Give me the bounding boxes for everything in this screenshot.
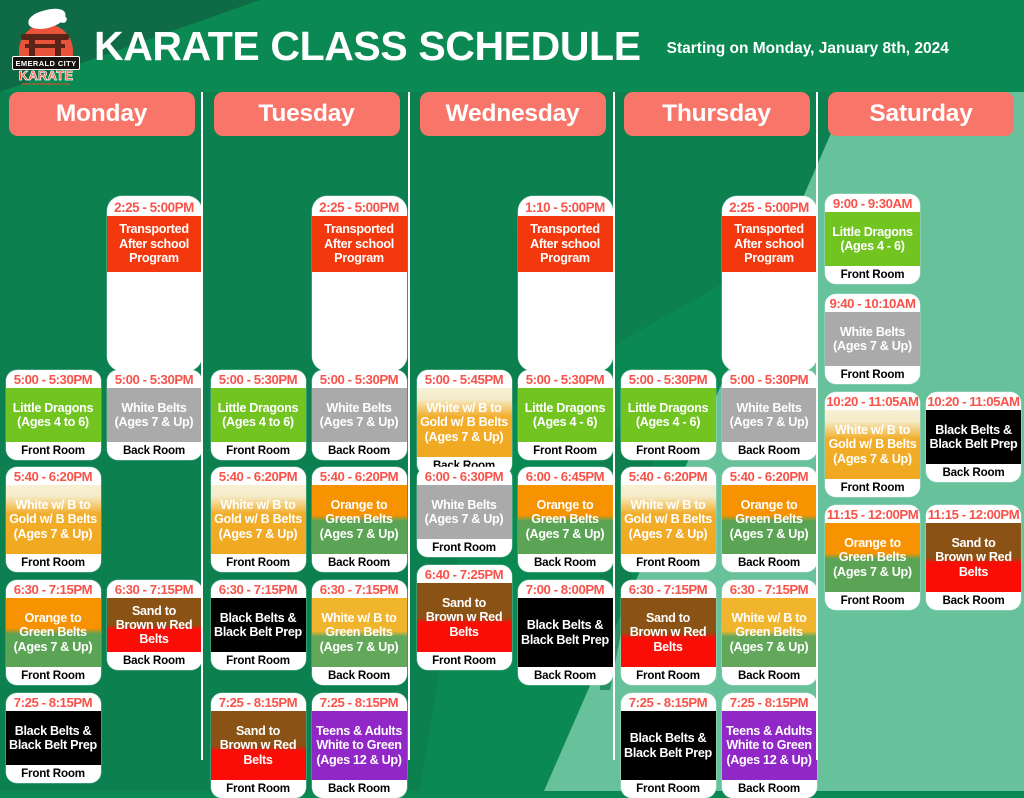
class-card[interactable]: 7:25 - 8:15PMTeens & AdultsWhite to Gree… [312,693,407,798]
class-room: Front Room [6,667,101,685]
day-column-tuesday: Tuesday2:25 - 5:00PMTransportedAfter sch… [203,88,410,791]
class-time: 10:20 - 11:05AM [825,392,920,410]
class-room: Front Room [6,554,101,572]
class-time: 5:00 - 5:30PM [312,370,407,388]
class-time: 7:25 - 8:15PM [722,693,817,711]
card-filler [312,272,407,371]
class-time: 11:15 - 12:00PM [926,505,1021,523]
class-room: Front Room [518,442,613,460]
class-room: Front Room [825,479,920,497]
class-name: Sand toBrown w RedBelts [107,598,202,652]
class-card-transported[interactable]: 2:25 - 5:00PMTransportedAfter schoolProg… [722,196,817,371]
class-time: 6:30 - 7:15PM [6,580,101,598]
class-name: White Belts(Ages 7 & Up) [825,312,920,366]
class-room: Front Room [825,366,920,384]
class-room: Front Room [621,780,716,798]
class-time: 6:30 - 7:15PM [621,580,716,598]
class-time: 2:25 - 5:00PM [312,196,407,216]
class-name: Black Belts &Black Belt Prep [518,598,613,667]
class-card[interactable]: 7:25 - 8:15PMTeens & AdultsWhite to Gree… [722,693,817,798]
class-time: 7:25 - 8:15PM [6,693,101,711]
class-name: Black Belts &Black Belt Prep [621,711,716,780]
class-room: Back Room [518,554,613,572]
class-name: Black Belts &Black Belt Prep [926,410,1021,464]
class-name: Orange toGreen Belts(Ages 7 & Up) [518,485,613,554]
class-name: White w/ B toGreen Belts(Ages 7 & Up) [722,598,817,667]
class-name: White w/ B toGold w/ B Belts(Ages 7 & Up… [825,410,920,479]
class-card[interactable]: 9:00 - 9:30AMLittle Dragons(Ages 4 - 6)F… [825,194,920,284]
slot-area: 1:10 - 5:00PMTransportedAfter schoolProg… [413,142,613,791]
class-card[interactable]: 5:00 - 5:45PMWhite w/ B toGold w/ B Belt… [417,370,512,475]
class-name: Little Dragons(Ages 4 - 6) [518,388,613,442]
class-time: 2:25 - 5:00PM [107,196,202,216]
class-name: White Belts(Ages 7 & Up) [722,388,817,442]
class-name: White Belts(Ages 7 & Up) [417,485,512,539]
class-time: 5:40 - 6:20PM [211,467,306,485]
class-room: Back Room [722,554,817,572]
class-room: Back Room [107,652,202,670]
class-card[interactable]: 6:30 - 7:15PMOrange toGreen Belts(Ages 7… [6,580,101,685]
class-time: 5:00 - 5:30PM [518,370,613,388]
class-name: White w/ B toGold w/ B Belts(Ages 7 & Up… [621,485,716,554]
class-time: 5:40 - 6:20PM [312,467,407,485]
class-name: Orange toGreen Belts(Ages 7 & Up) [825,523,920,592]
class-time: 5:40 - 6:20PM [722,467,817,485]
class-card[interactable]: 5:00 - 5:30PMLittle Dragons(Ages 4 - 6)F… [621,370,716,460]
class-card[interactable]: 6:40 - 7:25PMSand toBrown w RedBeltsFron… [417,565,512,670]
day-header-thursday[interactable]: Thursday [624,92,810,136]
day-header-wednesday[interactable]: Wednesday [420,92,606,136]
day-column-thursday: Thursday2:25 - 5:00PMTransportedAfter sc… [615,88,818,791]
class-name: Orange toGreen Belts(Ages 7 & Up) [312,485,407,554]
card-filler [518,272,613,371]
class-room: Back Room [926,592,1021,610]
class-card-transported[interactable]: 2:25 - 5:00PMTransportedAfter schoolProg… [107,196,202,371]
class-room: Front Room [211,442,306,460]
class-time: 5:00 - 5:30PM [722,370,817,388]
class-name: Sand toBrown w RedBelts [621,598,716,667]
class-room: Front Room [621,667,716,685]
class-room: Back Room [312,554,407,572]
class-card[interactable]: 7:25 - 8:15PMBlack Belts &Black Belt Pre… [621,693,716,798]
class-name: White w/ B toGold w/ B Belts(Ages 7 & Up… [417,388,512,457]
class-room: Front Room [417,539,512,557]
class-card[interactable]: 6:30 - 7:15PMWhite w/ B toGreen Belts(Ag… [722,580,817,685]
class-card[interactable]: 10:20 - 11:05AMBlack Belts &Black Belt P… [926,392,1021,482]
day-column-saturday: Saturday9:00 - 9:30AMLittle Dragons(Ages… [818,88,1024,791]
class-time: 5:40 - 6:20PM [6,467,101,485]
card-filler [722,272,817,371]
class-time: 7:00 - 8:00PM [518,580,613,598]
class-name: Sand toBrown w RedBelts [926,523,1021,592]
class-time: 9:00 - 9:30AM [825,194,920,212]
page-subtitle: Starting on Monday, January 8th, 2024 [667,34,949,58]
class-time: 6:00 - 6:30PM [417,467,512,485]
class-time: 5:00 - 5:30PM [621,370,716,388]
class-room: Back Room [107,442,202,460]
class-room: Back Room [312,780,407,798]
class-name: Teens & AdultsWhite to Green(Ages 12 & U… [722,711,817,780]
class-card[interactable]: 6:30 - 7:15PMSand toBrown w RedBeltsBack… [107,580,202,670]
class-room: Front Room [211,780,306,798]
class-time: 5:00 - 5:30PM [6,370,101,388]
day-column-wednesday: Wednesday1:10 - 5:00PMTransportedAfter s… [410,88,615,791]
class-time: 6:30 - 7:15PM [312,580,407,598]
class-room: Back Room [926,464,1021,482]
class-name: Sand toBrown w RedBelts [417,583,512,652]
class-name: White w/ B toGreen Belts(Ages 7 & Up) [312,598,407,667]
class-time: 5:00 - 5:30PM [211,370,306,388]
class-card[interactable]: 11:15 - 12:00PMSand toBrown w RedBeltsBa… [926,505,1021,610]
class-room: Back Room [722,442,817,460]
day-header-tuesday[interactable]: Tuesday [214,92,400,136]
class-time: 6:30 - 7:15PM [722,580,817,598]
page-title: KARATE CLASS SCHEDULE [94,23,641,70]
class-room: Front Room [6,765,101,783]
class-card[interactable]: 7:25 - 8:15PMBlack Belts &Black Belt Pre… [6,693,101,783]
day-column-monday: Monday2:25 - 5:00PMTransportedAfter scho… [0,88,203,791]
class-name: Little Dragons(Ages 4 - 6) [825,212,920,266]
class-time: 1:10 - 5:00PM [518,196,613,216]
class-card[interactable]: 6:00 - 6:45PMOrange toGreen Belts(Ages 7… [518,467,613,572]
class-room: Back Room [518,667,613,685]
class-name: Sand toBrown w RedBelts [211,711,306,780]
class-room: Front Room [211,652,306,670]
class-room: Front Room [621,442,716,460]
slot-area: 2:25 - 5:00PMTransportedAfter schoolProg… [2,142,202,791]
class-time: 10:20 - 11:05AM [926,392,1021,410]
class-room: Front Room [825,266,920,284]
class-name: Little Dragons(Ages 4 to 6) [211,388,306,442]
class-time: 9:40 - 10:10AM [825,294,920,312]
class-name: Orange toGreen Belts(Ages 7 & Up) [6,598,101,667]
page-header: EMERALD CITY KARATE www.emeraldcitykarat… [0,0,1024,92]
day-header-saturday[interactable]: Saturday [828,92,1014,136]
class-room: Front Room [825,592,920,610]
class-time: 6:30 - 7:15PM [211,580,306,598]
class-time: 5:00 - 5:30PM [107,370,202,388]
class-card[interactable]: 5:00 - 5:30PMWhite Belts(Ages 7 & Up)Bac… [312,370,407,460]
class-time: 7:25 - 8:15PM [312,693,407,711]
class-room: Back Room [722,780,817,798]
class-name: Little Dragons(Ages 4 - 6) [621,388,716,442]
class-card[interactable]: 6:30 - 7:15PMWhite w/ B toGreen Belts(Ag… [312,580,407,685]
slot-area: 2:25 - 5:00PMTransportedAfter schoolProg… [207,142,407,791]
class-room: Front Room [6,442,101,460]
class-time: 6:40 - 7:25PM [417,565,512,583]
class-card[interactable]: 6:00 - 6:30PMWhite Belts(Ages 7 & Up)Fro… [417,467,512,557]
class-name: White Belts(Ages 7 & Up) [107,388,202,442]
class-card[interactable]: 5:00 - 5:30PMLittle Dragons(Ages 4 - 6)F… [518,370,613,460]
class-time: 6:30 - 7:15PM [107,580,202,598]
class-time: 7:25 - 8:15PM [621,693,716,711]
class-name: Black Belts &Black Belt Prep [211,598,306,652]
class-name: White w/ B toGold w/ B Belts(Ages 7 & Up… [211,485,306,554]
class-room: Front Room [621,554,716,572]
class-card[interactable]: 9:40 - 10:10AMWhite Belts(Ages 7 & Up)Fr… [825,294,920,384]
class-card[interactable]: 10:20 - 11:05AMWhite w/ B toGold w/ B Be… [825,392,920,497]
class-card[interactable]: 5:40 - 6:20PMWhite w/ B toGold w/ B Belt… [621,467,716,572]
class-name: TransportedAfter schoolProgram [312,216,407,272]
class-card[interactable]: 11:15 - 12:00PMOrange toGreen Belts(Ages… [825,505,920,610]
class-room: Back Room [722,667,817,685]
class-card[interactable]: 5:40 - 6:20PMOrange toGreen Belts(Ages 7… [312,467,407,572]
class-card[interactable]: 5:00 - 5:30PMLittle Dragons(Ages 4 to 6)… [6,370,101,460]
slot-area: 2:25 - 5:00PMTransportedAfter schoolProg… [617,142,817,791]
class-card-transported[interactable]: 2:25 - 5:00PMTransportedAfter schoolProg… [312,196,407,371]
class-card[interactable]: 5:40 - 6:20PMWhite w/ B toGold w/ B Belt… [211,467,306,572]
slot-area: 9:00 - 9:30AMLittle Dragons(Ages 4 - 6)F… [821,142,1021,791]
emerald-city-karate-logo-icon: EMERALD CITY KARATE www.emeraldcitykarat… [8,8,82,86]
class-name: White Belts(Ages 7 & Up) [312,388,407,442]
card-filler [107,272,202,371]
class-time: 5:40 - 6:20PM [621,467,716,485]
class-name: TransportedAfter schoolProgram [518,216,613,272]
class-card[interactable]: 5:40 - 6:20PMWhite w/ B toGold w/ B Belt… [6,467,101,572]
class-card[interactable]: 6:30 - 7:15PMBlack Belts &Black Belt Pre… [211,580,306,670]
class-time: 5:00 - 5:45PM [417,370,512,388]
day-header-monday[interactable]: Monday [9,92,195,136]
class-room: Front Room [417,652,512,670]
class-card[interactable]: 5:00 - 5:30PMWhite Belts(Ages 7 & Up)Bac… [722,370,817,460]
class-name: Black Belts &Black Belt Prep [6,711,101,765]
class-name: White w/ B toGold w/ B Belts(Ages 7 & Up… [6,485,101,554]
class-name: Teens & AdultsWhite to Green(Ages 12 & U… [312,711,407,780]
class-name: TransportedAfter schoolProgram [722,216,817,272]
class-card[interactable]: 5:00 - 5:30PMLittle Dragons(Ages 4 to 6)… [211,370,306,460]
class-room: Front Room [211,554,306,572]
class-time: 7:25 - 8:15PM [211,693,306,711]
class-card-transported[interactable]: 1:10 - 5:00PMTransportedAfter schoolProg… [518,196,613,371]
class-name: Orange toGreen Belts(Ages 7 & Up) [722,485,817,554]
class-card[interactable]: 6:30 - 7:15PMSand toBrown w RedBeltsFron… [621,580,716,685]
schedule-grid: Monday2:25 - 5:00PMTransportedAfter scho… [0,88,1024,791]
class-name: TransportedAfter schoolProgram [107,216,202,272]
logo-url: www.emeraldcitykarate.com [13,81,79,86]
class-time: 2:25 - 5:00PM [722,196,817,216]
class-card[interactable]: 5:40 - 6:20PMOrange toGreen Belts(Ages 7… [722,467,817,572]
class-time: 11:15 - 12:00PM [825,505,920,523]
class-time: 6:00 - 6:45PM [518,467,613,485]
class-room: Back Room [312,442,407,460]
class-name: Little Dragons(Ages 4 to 6) [6,388,101,442]
class-room: Back Room [312,667,407,685]
class-card[interactable]: 7:25 - 8:15PMSand toBrown w RedBeltsFron… [211,693,306,798]
class-card[interactable]: 5:00 - 5:30PMWhite Belts(Ages 7 & Up)Bac… [107,370,202,460]
class-card[interactable]: 7:00 - 8:00PMBlack Belts &Black Belt Pre… [518,580,613,685]
